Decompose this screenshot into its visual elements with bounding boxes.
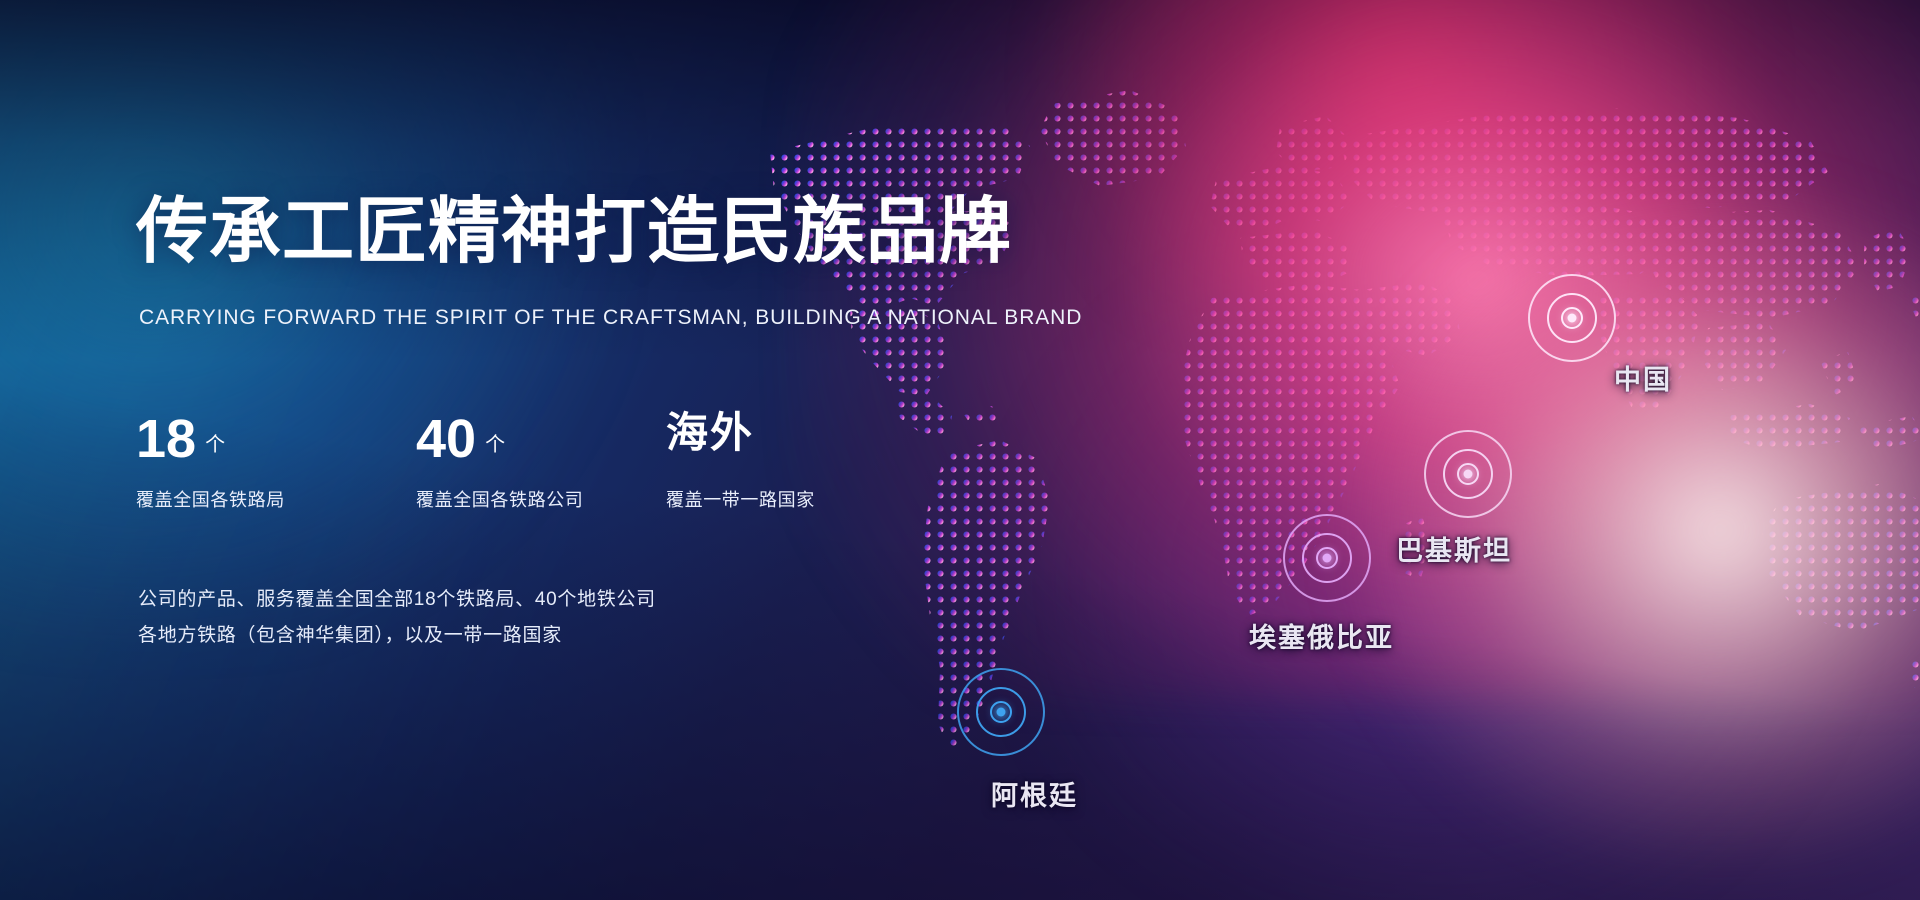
stat-value-group: 海外 [666,412,916,474]
stat-unit: 个 [485,435,505,455]
map-marker-label-ethiopia: 埃塞俄比亚 [1249,616,1394,655]
marker-core-icon [1568,314,1577,323]
stat-number: 18 [136,412,196,466]
map-marker-label-pakistan: 巴基斯坦 [1396,529,1512,568]
stat-description: 覆盖一带一路国家 [666,486,916,512]
stat-number: 海外 [666,412,754,454]
map-marker-label-china: 中国 [1614,358,1672,397]
stat-item-overseas: 海外 覆盖一带一路国家 [666,412,916,512]
stat-item-railway-companies: 40 个 覆盖全国各铁路公司 [416,412,666,512]
marker-core-icon [1464,470,1473,479]
stat-item-railway-bureaus: 18 个 覆盖全国各铁路局 [136,412,416,512]
stat-value-group: 18 个 [136,412,416,474]
body-copy-line: 公司的产品、服务覆盖全国全部18个铁路局、40个地铁公司 [138,582,656,618]
banner-stage: 中国巴基斯坦埃塞俄比亚阿根廷 传承工匠精神打造民族品牌 CARRYING FOR… [0,0,1920,900]
stat-description: 覆盖全国各铁路公司 [416,486,666,512]
stat-unit: 个 [205,435,225,455]
page-subtitle: CARRYING FORWARD THE SPIRIT OF THE CRAFT… [139,306,1082,330]
stat-value-group: 40 个 [416,412,666,474]
stats-row: 18 个 覆盖全国各铁路局 40 个 覆盖全国各铁路公司 海外 覆盖一带一路国家 [136,412,916,512]
stat-number: 40 [416,412,476,466]
body-copy: 公司的产品、服务覆盖全国全部18个铁路局、40个地铁公司 各地方铁路（包含神华集… [138,582,656,654]
stat-description: 覆盖全国各铁路局 [136,486,416,512]
body-copy-line: 各地方铁路（包含神华集团），以及一带一路国家 [138,618,656,654]
marker-core-icon [1323,554,1332,563]
page-title: 传承工匠精神打造民族品牌 [136,196,1012,268]
banner-content: 传承工匠精神打造民族品牌 CARRYING FORWARD THE SPIRIT… [136,0,1096,900]
